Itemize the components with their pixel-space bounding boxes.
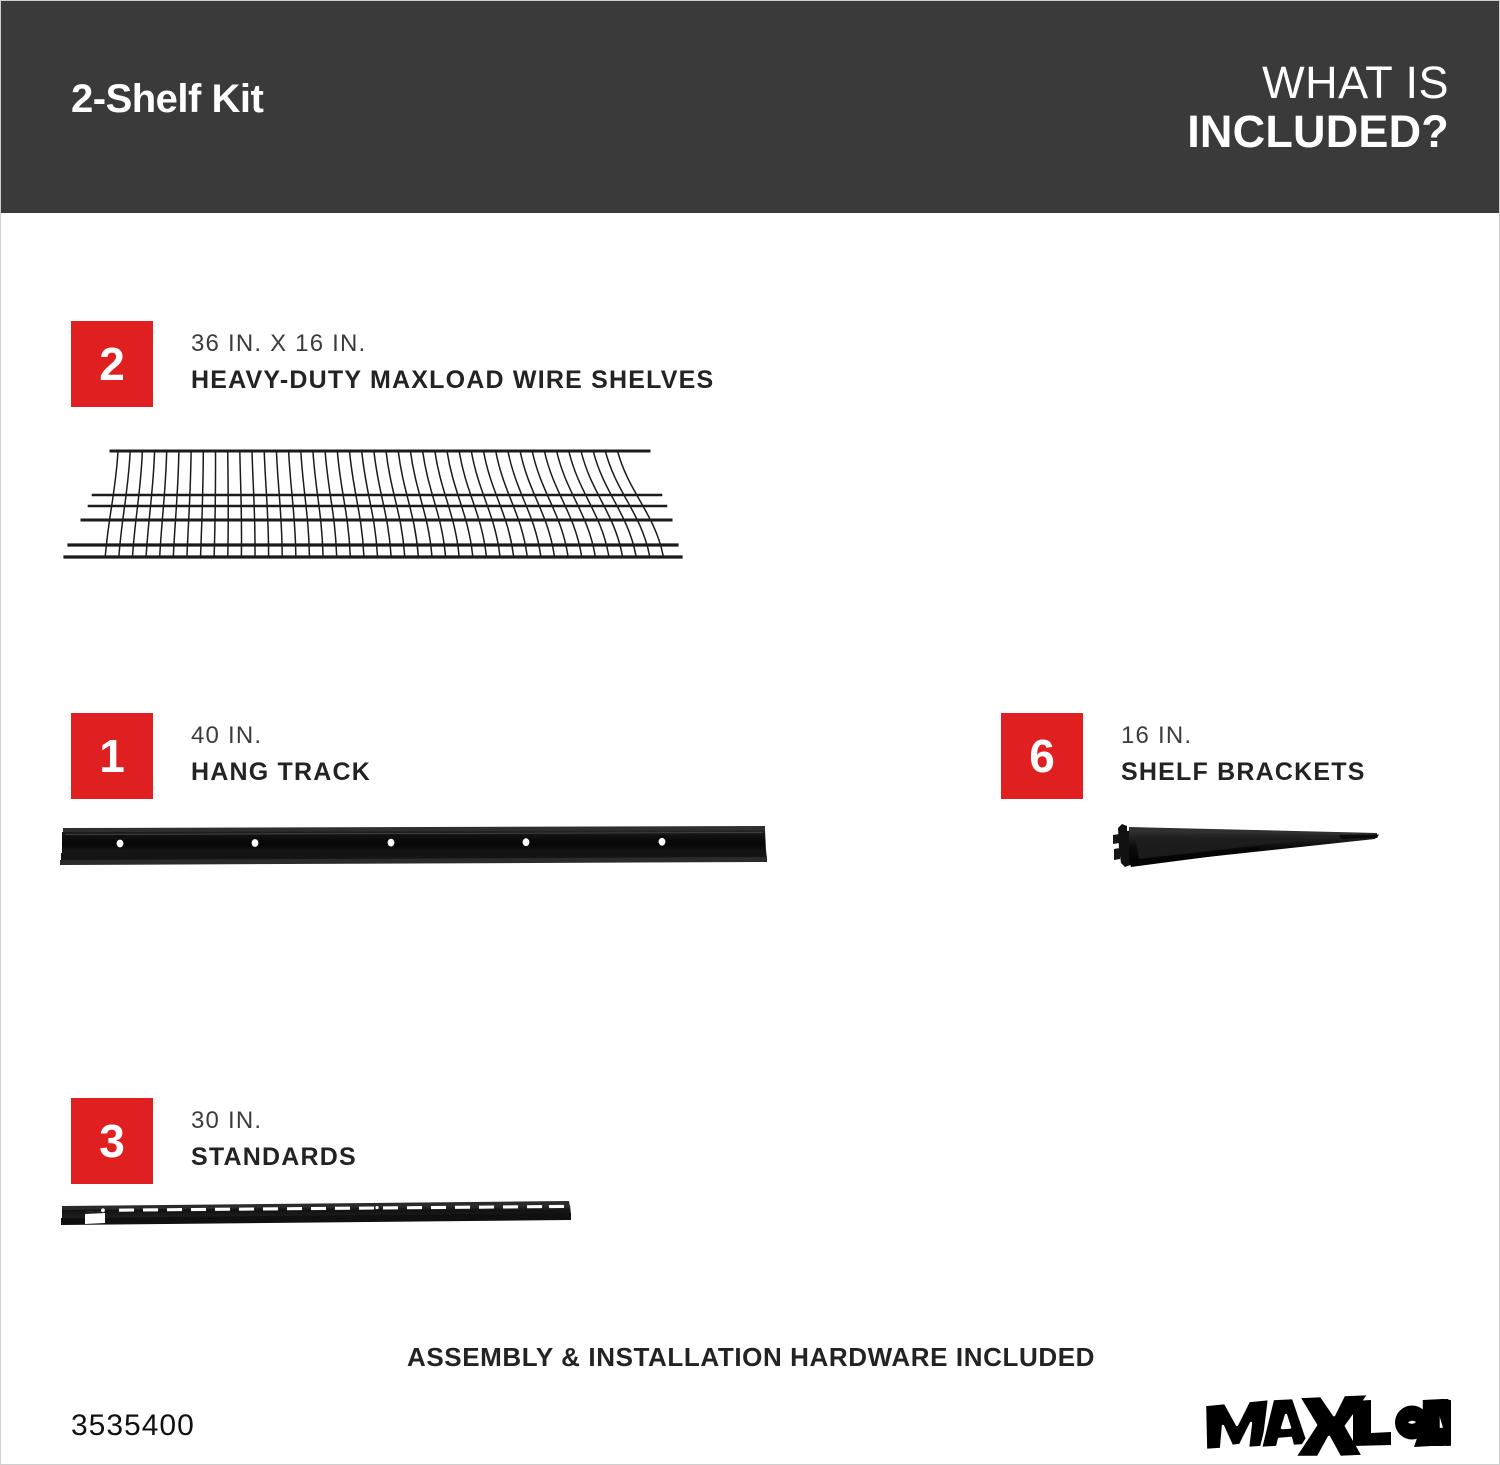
item-name: SHELF BRACKETS: [1121, 754, 1366, 792]
item-shelf-brackets: 6 16 IN. SHELF BRACKETS: [1001, 713, 1421, 803]
item-size: 30 IN.: [191, 1102, 357, 1139]
logo-letter-m: [1205, 1399, 1269, 1450]
spec-sheet: 2-Shelf Kit WHAT IS INCLUDED? 2 36 IN. X…: [0, 0, 1500, 1465]
quantity-badge: 2: [71, 321, 153, 407]
header-bar: 2-Shelf Kit WHAT IS INCLUDED?: [1, 1, 1500, 213]
logo-registered-mark: ®: [1446, 1401, 1451, 1411]
item-hang-track: 1 40 IN. HANG TRACK: [71, 713, 491, 803]
item-standards: 3 30 IN. STANDARDS: [71, 1098, 491, 1188]
item-label-group: 36 IN. X 16 IN. HEAVY-DUTY MAXLOAD WIRE …: [191, 325, 714, 400]
item-size: 36 IN. X 16 IN.: [191, 325, 714, 362]
standard-rail-illustration: [59, 1199, 574, 1233]
item-name: HANG TRACK: [191, 754, 371, 792]
hardware-included-note: ASSEMBLY & INSTALLATION HARDWARE INCLUDE…: [1, 1342, 1500, 1373]
item-label-group: 40 IN. HANG TRACK: [191, 717, 371, 792]
quantity-badge: 3: [71, 1098, 153, 1184]
headline-main: INCLUDED?: [1187, 108, 1449, 157]
item-size: 16 IN.: [1121, 717, 1366, 754]
item-label-group: 30 IN. STANDARDS: [191, 1102, 357, 1177]
item-label-group: 16 IN. SHELF BRACKETS: [1121, 717, 1366, 792]
page-title: 2-Shelf Kit: [71, 79, 263, 119]
hang-track-illustration: [59, 825, 769, 867]
shelf-bracket-illustration: [1109, 819, 1381, 881]
item-name: STANDARDS: [191, 1139, 357, 1177]
wire-shelf-illustration: [63, 433, 693, 568]
item-size: 40 IN.: [191, 717, 371, 754]
item-wire-shelves: 2 36 IN. X 16 IN. HEAVY-DUTY MAXLOAD WIR…: [71, 321, 831, 411]
maxload-logo: ®: [1203, 1395, 1451, 1457]
headline-eyebrow: WHAT IS: [1187, 59, 1449, 108]
sku-number: 3535400: [71, 1409, 195, 1443]
item-name: HEAVY-DUTY MAXLOAD WIRE SHELVES: [191, 362, 714, 400]
logo-word-load: [1353, 1399, 1451, 1447]
quantity-badge: 6: [1001, 713, 1083, 799]
quantity-badge: 1: [71, 713, 153, 799]
header-headline-group: WHAT IS INCLUDED?: [1187, 59, 1449, 156]
